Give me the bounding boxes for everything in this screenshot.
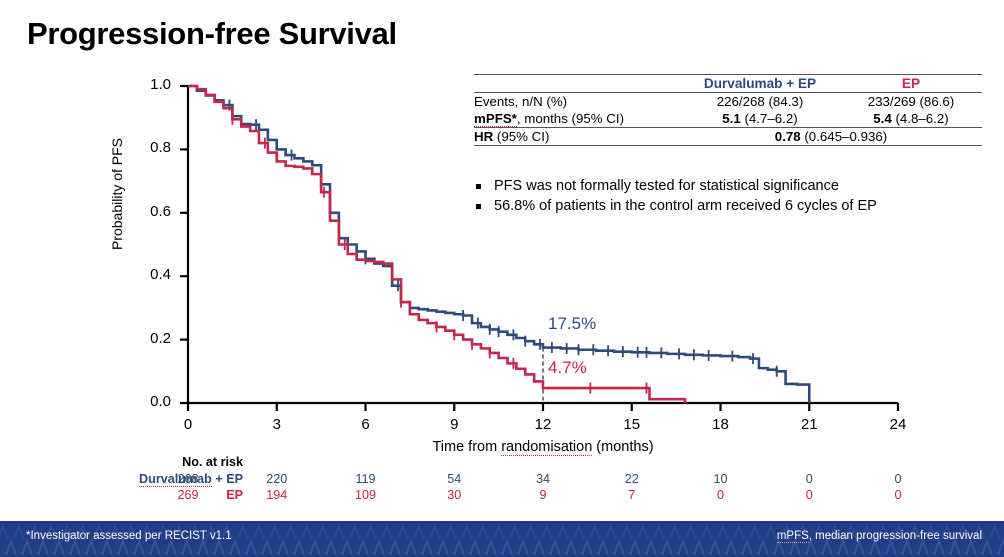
footer-chevron [702, 526, 712, 539]
footer-chevron [494, 526, 504, 539]
footer-chevron [150, 541, 160, 555]
footer-chevron [542, 526, 552, 539]
footer-chevron [606, 526, 616, 539]
risk-cell: 0 [875, 488, 921, 502]
footer-chevron [582, 541, 592, 555]
footer-chevron [270, 526, 280, 539]
annotation-ep-landmark: 4.7% [548, 358, 587, 378]
footer-chevron [390, 541, 400, 555]
statistics-table-inner: Durvalumab + EP EP Events, n/N (%) 226/2… [474, 74, 982, 146]
footer-chevron [486, 541, 496, 555]
footer-chevron [630, 541, 640, 555]
stats-row-mpfs-label: mPFS*, months (95% CI) [474, 110, 680, 128]
stats-header-row: Durvalumab + EP EP [474, 75, 982, 93]
list-item: 56.8% of patients in the control arm rec… [476, 198, 996, 214]
stats-row-hr-label-text: (95% CI) [493, 129, 549, 144]
footer-chevron [462, 526, 472, 539]
stats-hr-bold: 0.78 [775, 129, 801, 144]
footer-chevron [318, 526, 328, 539]
stats-hr-text: (0.645–0.936) [801, 129, 888, 144]
footer-chevron [350, 526, 360, 539]
x-tick-label: 0 [168, 416, 208, 433]
footer-chevron [646, 541, 656, 555]
x-tick-label: 18 [701, 416, 741, 433]
footer-chevron [246, 541, 256, 555]
stats-row-mpfs-ep: 5.4 (4.8–6.2) [840, 110, 982, 128]
stats-row-mpfs-label-bold: mPFS* [474, 111, 517, 127]
footer-chevron [574, 526, 584, 539]
footer-chevron [294, 541, 304, 555]
footer-chevron [286, 526, 296, 539]
footer-chevron [358, 541, 368, 555]
footer-chevron [326, 541, 336, 555]
footer-chevron [382, 526, 392, 539]
footer-chevron [918, 541, 928, 555]
stats-row-events-durvalumab: 226/268 (84.3) [680, 93, 840, 111]
footer-chevron [854, 541, 864, 555]
footer-chevron [686, 526, 696, 539]
footer-chevron [718, 526, 728, 539]
footer-chevron [422, 541, 432, 555]
footer-chevron [14, 526, 24, 539]
x-tick-label: 15 [612, 416, 652, 433]
risk-cell: 0 [786, 472, 832, 486]
footer-chevron [430, 526, 440, 539]
y-tick-label: 0.0 [131, 393, 171, 410]
y-tick-label: 0.8 [131, 139, 171, 156]
footer-chevron [766, 526, 776, 539]
footer-chevron [694, 541, 704, 555]
risk-cell: 54 [431, 472, 477, 486]
stats-header-durvalumab: Durvalumab + EP [680, 75, 840, 93]
footer-chevron [614, 541, 624, 555]
x-axis-title-post: (months) [592, 439, 653, 455]
y-tick-label: 0.4 [131, 266, 171, 283]
footer-chevron [238, 526, 248, 539]
footer-chevron [822, 541, 832, 555]
stats-row-events: Events, n/N (%) 226/268 (84.3) 233/269 (… [474, 93, 982, 111]
footer-bar: *Investigator assessed per RECIST v1.1 m… [0, 521, 1004, 557]
footer-chevron [558, 526, 568, 539]
risk-cell: 22 [609, 472, 655, 486]
annotation-durvalumab-landmark: 17.5% [548, 314, 596, 334]
footer-chevron [398, 526, 408, 539]
list-item: PFS was not formally tested for statisti… [476, 178, 996, 194]
footer-chevron [262, 541, 272, 555]
footer-chevron [902, 541, 912, 555]
footer-chevron [134, 541, 144, 555]
footer-note-right-rest: , median progression-free survival [809, 530, 982, 542]
footer-chevron [86, 541, 96, 555]
risk-cell: 7 [609, 488, 655, 502]
footer-chevron [38, 541, 48, 555]
footer-chevron [670, 526, 680, 539]
footer-chevron [934, 541, 944, 555]
footer-chevron [710, 541, 720, 555]
footer-chevron [406, 541, 416, 555]
footer-chevron [70, 541, 80, 555]
footer-chevron [598, 541, 608, 555]
risk-cell: 9 [520, 488, 566, 502]
footer-chevron [734, 526, 744, 539]
stats-row-events-label-text: Events, n/N (%) [474, 94, 567, 109]
footer-chevron [566, 541, 576, 555]
footer-chevron [470, 541, 480, 555]
risk-cell: 30 [431, 488, 477, 502]
statistics-table: Durvalumab + EP EP Events, n/N (%) 226/2… [474, 74, 982, 146]
footer-chevron [278, 541, 288, 555]
stats-row-hr-value: 0.78 (0.645–0.936) [680, 128, 982, 146]
risk-cell: 10 [698, 472, 744, 486]
footer-chevron [230, 541, 240, 555]
footer-chevron [502, 541, 512, 555]
footer-chevron [550, 541, 560, 555]
stats-events-e-text: 233/269 (86.6) [868, 94, 955, 109]
risk-cell: 109 [343, 488, 389, 502]
footer-chevron [254, 526, 264, 539]
footer-chevron [214, 541, 224, 555]
stats-events-d-text: 226/268 (84.3) [717, 94, 804, 109]
footer-chevron [478, 526, 488, 539]
footer-chevron [886, 541, 896, 555]
footer-chevron [366, 526, 376, 539]
footer-chevron [6, 541, 16, 555]
footer-chevron [998, 541, 1004, 555]
footer-chevron [990, 526, 1000, 539]
stats-header-ep: EP [840, 75, 982, 93]
footer-chevron [518, 541, 528, 555]
footer-chevron [342, 541, 352, 555]
risk-cell: 0 [786, 488, 832, 502]
stats-row-mpfs-label-text: , months (95% CI) [517, 111, 624, 126]
footer-chevron [726, 541, 736, 555]
square-bullet-icon [476, 184, 485, 189]
footer-note-right: mPFS, median progression-free survival [777, 530, 982, 542]
square-bullet-icon [476, 204, 485, 209]
footer-chevron [198, 541, 208, 555]
footer-chevron [118, 541, 128, 555]
footer-chevron [982, 541, 992, 555]
risk-row-label-durvalumab-rest: + EP [212, 472, 243, 486]
y-axis-title: Probability of PFS [109, 74, 125, 314]
stats-row-mpfs: mPFS*, months (95% CI) 5.1 (4.7–6.2) 5.4… [474, 110, 982, 128]
footer-chevron [950, 541, 960, 555]
risk-cell: 34 [520, 472, 566, 486]
footer-chevron [302, 526, 312, 539]
x-tick-label: 6 [346, 416, 386, 433]
y-tick-label: 0.2 [131, 330, 171, 347]
footer-chevron [870, 541, 880, 555]
stats-row-hr: HR (95% CI) 0.78 (0.645–0.936) [474, 128, 982, 146]
footer-chevron [526, 526, 536, 539]
risk-cell: 194 [254, 488, 300, 502]
footer-note-right-spell: mPFS [777, 530, 809, 543]
stats-header-blank [474, 75, 680, 93]
risk-cell: 119 [343, 472, 389, 486]
footer-note-left: *Investigator assessed per RECIST v1.1 [26, 530, 232, 542]
footer-chevron [310, 541, 320, 555]
x-axis-title-spellcheck: randomisation [501, 439, 592, 456]
x-tick-label: 12 [523, 416, 563, 433]
footer-chevron [22, 541, 32, 555]
footer-chevron [966, 541, 976, 555]
stats-mpfs-d-text: (4.7–6.2) [741, 111, 798, 126]
footer-chevron [454, 541, 464, 555]
y-tick-label: 1.0 [131, 76, 171, 93]
stats-mpfs-e-bold: 5.4 [873, 111, 892, 126]
footer-chevron [654, 526, 664, 539]
number-at-risk-header: No. at risk [0, 455, 243, 469]
footer-chevron [790, 541, 800, 555]
footer-chevron [510, 526, 520, 539]
footer-chevron [414, 526, 424, 539]
footer-chevron [446, 526, 456, 539]
footer-chevron [438, 541, 448, 555]
x-tick-label: 9 [434, 416, 474, 433]
stats-row-events-ep: 233/269 (86.6) [840, 93, 982, 111]
footer-chevron [758, 541, 768, 555]
key-points-list: PFS was not formally tested for statisti… [476, 178, 996, 218]
slide-root: Progression-free Survival Probability of… [0, 0, 1004, 557]
footer-chevron [54, 541, 64, 555]
footer-chevron [638, 526, 648, 539]
footer-chevron [742, 541, 752, 555]
stats-row-events-label: Events, n/N (%) [474, 93, 680, 111]
footer-chevron [102, 541, 112, 555]
risk-cell: 269 [165, 488, 211, 502]
list-item-label: 56.8% of patients in the control arm rec… [494, 198, 877, 214]
stats-row-hr-label-bold: HR [474, 129, 493, 144]
footer-chevron [334, 526, 344, 539]
footer-chevron [374, 541, 384, 555]
footer-chevron [622, 526, 632, 539]
footer-chevron [774, 541, 784, 555]
stats-mpfs-e-text: (4.8–6.2) [892, 111, 949, 126]
footer-chevron [590, 526, 600, 539]
risk-cell: 268 [165, 472, 211, 486]
footer-chevron [806, 541, 816, 555]
risk-cell: 220 [254, 472, 300, 486]
x-tick-label: 21 [789, 416, 829, 433]
footer-chevron [662, 541, 672, 555]
stats-row-mpfs-durvalumab: 5.1 (4.7–6.2) [680, 110, 840, 128]
footer-chevron [678, 541, 688, 555]
footer-chevron [182, 541, 192, 555]
risk-cell: 0 [698, 488, 744, 502]
footer-chevron [166, 541, 176, 555]
stats-mpfs-d-bold: 5.1 [722, 111, 741, 126]
list-item-label: PFS was not formally tested for statisti… [494, 178, 839, 194]
x-tick-label: 24 [878, 416, 918, 433]
risk-cell: 0 [875, 472, 921, 486]
footer-chevron [0, 526, 8, 539]
x-tick-label: 3 [257, 416, 297, 433]
x-axis-title: Time from randomisation (months) [188, 439, 898, 455]
footer-chevron [838, 541, 848, 555]
footer-chevron [750, 526, 760, 539]
y-tick-label: 0.6 [131, 203, 171, 220]
x-axis-title-pre: Time from [432, 439, 501, 455]
stats-row-hr-label: HR (95% CI) [474, 128, 680, 146]
footer-chevron [534, 541, 544, 555]
